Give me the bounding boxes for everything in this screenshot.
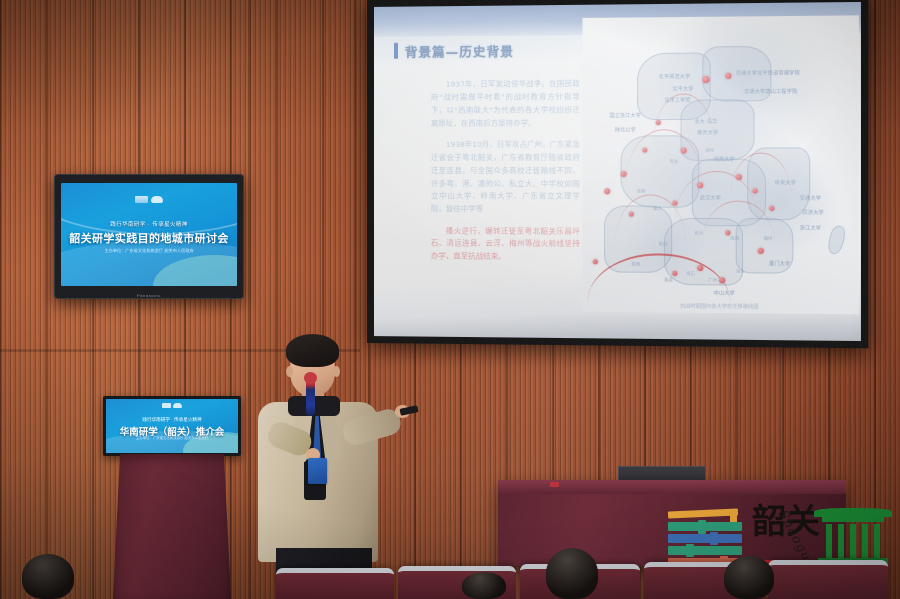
map-city-dot [725, 73, 731, 79]
map-city-dot [736, 174, 742, 180]
map-label: 同济大学 [802, 209, 823, 216]
podium-logo-mark-icon [162, 403, 171, 408]
presenter-ear-left [286, 366, 293, 377]
logo-roof-2 [822, 517, 884, 522]
map-city-dot [629, 212, 634, 217]
map-label: 陕北公学 [615, 127, 636, 134]
podium-display-screen: 践行华南研学 · 传承星火精神 华南研学（韶关）推介会 主办单位：广东省文化和旅… [103, 396, 241, 456]
map-label: 北平大学 [672, 85, 693, 92]
slide-title-group: 背景篇—历史背景 [394, 40, 514, 60]
podium-cloud-icon [173, 403, 182, 408]
map-city-dot [752, 188, 757, 193]
map-city-dot [681, 147, 687, 153]
map-label: 昆明 [631, 262, 640, 268]
map-label: 北洋工学院 [664, 97, 690, 104]
presenter-ear-right [333, 366, 340, 377]
map-label: 连县 [664, 277, 673, 283]
podium-logo-group [162, 403, 182, 408]
logo-pillar [874, 524, 880, 558]
slide-paragraph-highlight: 播火逆行，辗转迁徙至粤北韶关乐昌坪石、清远连县、云浮、梅州等战火前线坚持办学，直… [431, 225, 580, 264]
kv-cloud-icon [151, 196, 163, 203]
map-label: 中央大学 [775, 180, 796, 187]
audience-chair [768, 560, 888, 599]
desk-small-object [550, 482, 559, 487]
map-label: 广州 [708, 277, 717, 283]
slide-section-title: 背景篇—历史背景 [405, 40, 514, 60]
tv-screen-content: 践行华南研学 · 传承星火精神 韶关研学实践目的地城市研讨会 主办单位：广东省文… [61, 183, 237, 286]
map-label: 成都 [637, 188, 646, 194]
logo-pillar [850, 524, 856, 558]
map-label: 贵阳 [659, 241, 668, 247]
map-label: 重庆 [653, 206, 662, 212]
logo-bar [668, 546, 742, 555]
conference-room-photo: 背景篇—历史背景 1937年，日军发动侵华战争。在国民政府"战时需做平时看"的战… [0, 0, 900, 599]
presenter-badge [308, 458, 327, 484]
logo-bar [710, 532, 718, 545]
map-label: 南开大学 [697, 129, 718, 136]
map-label: 交通大学唐山工程学院 [744, 87, 797, 94]
audience-head [546, 548, 598, 599]
map-label: 北大 清华 [694, 117, 717, 124]
map-city-dot [620, 171, 626, 177]
map-city-dot [642, 147, 647, 152]
logo-bar [668, 534, 742, 543]
slide-paragraph-1: 1937年，日军发动侵华战争。在国民政府"战时需做平时看"的战时教育方针指导下，… [431, 78, 580, 130]
map-label: 汕头 [736, 268, 745, 274]
logo-pillar [826, 524, 832, 558]
audience-head [462, 572, 506, 599]
map-label: 北平师范大学 [659, 73, 691, 80]
china-migration-map: 北平师范大学北平大学北洋工学院交通大学北平铁道管理学院交通大学唐山工程学院北大 … [582, 16, 858, 314]
presenter-person [248, 330, 423, 599]
audience-head [22, 554, 74, 599]
podium-body [113, 454, 231, 599]
map-label: 坪石 [686, 271, 695, 277]
logo-bar [668, 508, 738, 518]
slide-body-text: 1937年，日军发动侵华战争。在国民政府"战时需做平时看"的战时教育方针指导下，… [431, 78, 580, 273]
logo-roof [814, 508, 892, 517]
tv-subtitle: 践行华南研学 · 传承星火精神 [110, 220, 187, 228]
map-label: 南昌 [730, 236, 739, 242]
map-label: 交通大学北平铁道管理学院 [736, 70, 800, 78]
map-label: 浙江大学 [800, 224, 821, 231]
map-city-dot [672, 200, 677, 205]
map-label: 中山大学 [714, 289, 735, 296]
tv-organizer: 主办单位：广东省文化和旅游厅 韶关市人民政府 [104, 248, 193, 254]
map-label: 河南大学 [714, 156, 735, 163]
map-label: 国立浙江大学 [609, 112, 640, 119]
podium-organizer: 主办单位：广东省文化和旅游厅 韶关市人民政府 [136, 435, 208, 440]
map-city-dot [593, 259, 598, 264]
map-label: 西安 [670, 159, 679, 165]
logo-bar [686, 544, 694, 557]
logo-pillar [838, 524, 844, 558]
map-label: 交通大学 [800, 194, 821, 201]
presenter-hair [286, 334, 339, 367]
kv-logo-group [135, 196, 163, 203]
map-label: 长沙 [694, 230, 703, 236]
tv-main-title: 韶关研学实践目的地城市研讨会 [69, 230, 229, 246]
slide-paragraph-2: 1938年10月，日军攻占广州，广东紧急迁省会于粤北韶关，广东省教育厅随省政府迁… [431, 139, 580, 216]
microphone-head [304, 372, 317, 384]
wall-mounted-display: 践行华南研学 · 传承星火精神 韶关研学实践目的地城市研讨会 主办单位：广东省文… [54, 174, 244, 299]
logo-bar [698, 520, 706, 534]
kv-logo-mark-icon [135, 196, 148, 203]
audience-chair [276, 568, 394, 599]
map-label: 郑州 [705, 147, 714, 153]
map-label: 福州 [764, 236, 773, 242]
map-label: 厦门大学 [769, 260, 790, 267]
logo-pillar [862, 524, 868, 558]
lectern: 践行华南研学 · 传承星火精神 华南研学（韶关）推介会 主办单位：广东省文化和旅… [93, 396, 251, 599]
map-caption: 抗战时期国内各大学校迁移路线图 [680, 302, 758, 310]
slide-title-accent-bar [394, 43, 398, 59]
podium-subtitle: 践行华南研学 · 传承星火精神 [142, 417, 201, 423]
tv-brand-label: Panasonic [137, 293, 161, 298]
map-city-dot [725, 230, 730, 235]
map-city-dot [604, 188, 610, 194]
audience-head [724, 556, 774, 599]
presentation-slide: 背景篇—历史背景 1937年，日军发动侵华战争。在国民政府"战时需做平时看"的战… [374, 2, 861, 341]
map-label: 武汉大学 [700, 194, 721, 201]
projection-screen: 背景篇—历史背景 1937年，日军发动侵华战争。在国民政府"战时需做平时看"的战… [367, 0, 868, 348]
